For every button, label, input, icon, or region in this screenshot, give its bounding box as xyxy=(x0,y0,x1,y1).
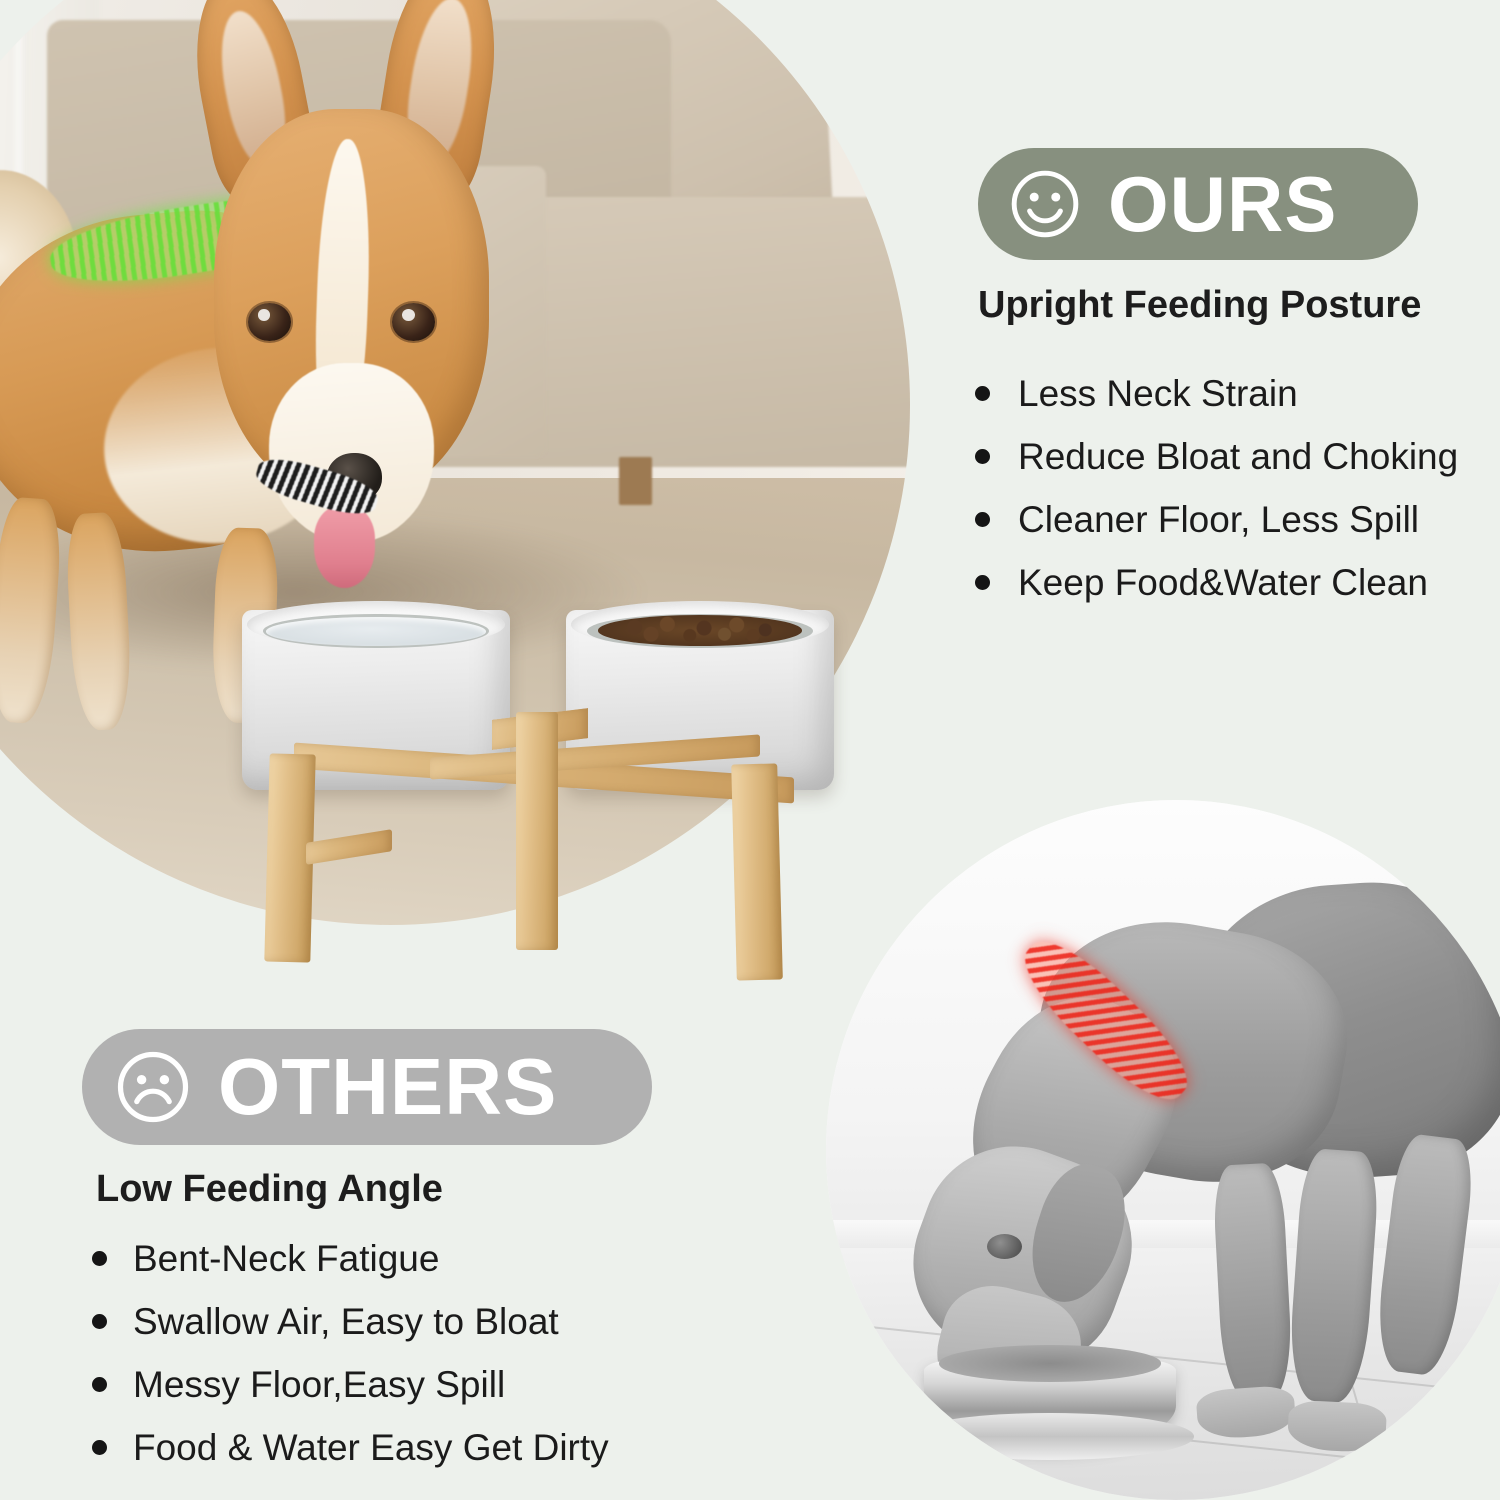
bullet-dot-icon xyxy=(92,1251,107,1266)
corgi-eye-left xyxy=(248,303,291,340)
kibble-food xyxy=(598,615,802,646)
bullet-dot-icon xyxy=(92,1314,107,1329)
bullet-dot-icon xyxy=(975,512,990,527)
list-item-label: Food & Water Easy Get Dirty xyxy=(133,1429,609,1466)
ours-benefit-list: Less Neck Strain Reduce Bloat and Chokin… xyxy=(975,375,1458,627)
corgi-leg xyxy=(0,496,64,724)
others-badge: OTHERS xyxy=(82,1029,652,1145)
dog-paw xyxy=(1195,1385,1296,1441)
stand-leg-center xyxy=(516,712,558,950)
bullet-dot-icon xyxy=(975,386,990,401)
list-item-label: Swallow Air, Easy to Bloat xyxy=(133,1303,559,1340)
smiley-face-icon xyxy=(1008,167,1082,241)
bullet-dot-icon xyxy=(975,575,990,590)
others-photo xyxy=(826,800,1500,1500)
dog-paw xyxy=(1287,1399,1387,1453)
list-item-label: Messy Floor,Easy Spill xyxy=(133,1366,505,1403)
list-item: Swallow Air, Easy to Bloat xyxy=(92,1303,609,1340)
ours-subtitle: Upright Feeding Posture xyxy=(978,284,1421,327)
corgi-eye-right xyxy=(392,303,435,340)
elevated-bowl-stand xyxy=(234,604,834,1004)
corgi-tongue xyxy=(314,506,376,588)
list-item: Reduce Bloat and Choking xyxy=(975,438,1458,475)
list-item-label: Bent-Neck Fatigue xyxy=(133,1240,439,1277)
list-item: Less Neck Strain xyxy=(975,375,1458,412)
infographic-canvas: OURS Upright Feeding Posture Less Neck S… xyxy=(0,0,1500,1500)
stand-brace-left xyxy=(306,829,392,865)
list-item-label: Reduce Bloat and Choking xyxy=(1018,438,1458,475)
bullet-dot-icon xyxy=(92,1377,107,1392)
list-item: Messy Floor,Easy Spill xyxy=(92,1366,609,1403)
list-item: Bent-Neck Fatigue xyxy=(92,1240,609,1277)
others-subtitle: Low Feeding Angle xyxy=(96,1168,443,1211)
bullet-dot-icon xyxy=(975,449,990,464)
list-item: Cleaner Floor, Less Spill xyxy=(975,501,1458,538)
ours-badge: OURS xyxy=(978,148,1418,260)
bullet-dot-icon xyxy=(92,1440,107,1455)
dog-eye xyxy=(987,1234,1022,1259)
others-badge-label: OTHERS xyxy=(218,1047,557,1127)
list-item-label: Keep Food&Water Clean xyxy=(1018,564,1428,601)
list-item-label: Cleaner Floor, Less Spill xyxy=(1018,501,1419,538)
dog-front-leg xyxy=(1212,1162,1294,1403)
ours-badge-label: OURS xyxy=(1108,165,1337,243)
bowl-water xyxy=(266,617,486,646)
steel-floor-bowl xyxy=(924,1360,1176,1451)
stand-leg-front-right xyxy=(731,763,783,980)
others-drawback-list: Bent-Neck Fatigue Swallow Air, Easy to B… xyxy=(92,1240,609,1492)
list-item: Keep Food&Water Clean xyxy=(975,564,1458,601)
list-item-label: Less Neck Strain xyxy=(1018,375,1298,412)
list-item: Food & Water Easy Get Dirty xyxy=(92,1429,609,1466)
sad-face-icon xyxy=(114,1048,192,1126)
dog-hind-leg xyxy=(1286,1148,1380,1405)
